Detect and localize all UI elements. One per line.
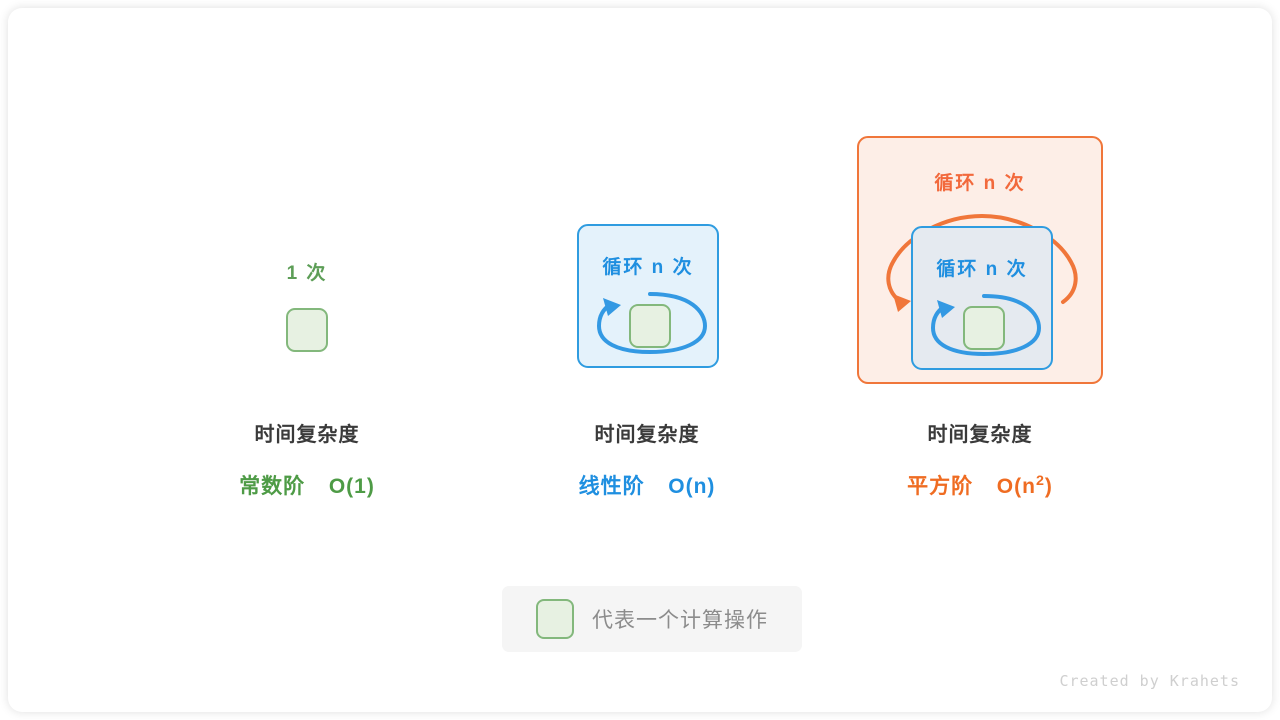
- caption-quadratic: 时间复杂度 平方阶 O(n2): [855, 418, 1105, 500]
- complexity-name: 常数阶: [239, 475, 305, 498]
- legend: 代表一个计算操作: [502, 586, 802, 652]
- caption-title: 时间复杂度: [855, 418, 1105, 447]
- loop-box-outer: 循环 n 次 循环 n 次: [857, 136, 1103, 384]
- caption-complexity: 线性阶 O(n): [547, 470, 747, 500]
- complexity-name: 平方阶: [907, 475, 973, 498]
- caption-linear: 时间复杂度 线性阶 O(n): [547, 418, 747, 500]
- computation-unit: [963, 306, 1005, 350]
- group-quadratic: 循环 n 次 循环 n 次 时间复杂度 平方阶 O(n2: [855, 128, 1105, 498]
- loop-box-inner: 循环 n 次: [911, 226, 1053, 370]
- complexity-notation: O(1): [329, 475, 375, 498]
- complexity-notation-suffix: ): [1045, 475, 1053, 498]
- caption-title: 时间复杂度: [207, 418, 407, 447]
- caption-complexity: 常数阶 O(1): [207, 470, 407, 500]
- computation-unit-swatch: [536, 599, 574, 639]
- caption-title: 时间复杂度: [547, 418, 747, 447]
- group-linear: 循环 n 次 时间复杂度 线性阶 O(n): [547, 218, 747, 498]
- complexity-name: 线性阶: [579, 475, 645, 498]
- caption-constant: 时间复杂度 常数阶 O(1): [207, 418, 407, 500]
- loop-label-inner: 循环 n 次: [579, 252, 717, 279]
- complexity-notation-base: O(n: [997, 475, 1036, 498]
- complexity-notation: O(n): [668, 475, 715, 498]
- group-constant: 1 次 时间复杂度 常数阶 O(1): [207, 258, 407, 498]
- computation-unit: [629, 304, 671, 348]
- credit-text: Created by Krahets: [1059, 672, 1240, 690]
- constant-count-label: 1 次: [207, 258, 407, 285]
- loop-arrow-icon: [913, 228, 1055, 372]
- loop-label-outer: 循环 n 次: [859, 168, 1101, 195]
- complexity-exponent: 2: [1036, 473, 1045, 489]
- loop-arrow-icon: [579, 226, 721, 370]
- caption-complexity: 平方阶 O(n2): [855, 470, 1105, 500]
- constant-stage: [207, 298, 407, 418]
- diagram-canvas: 1 次 时间复杂度 常数阶 O(1) 循环 n 次 时间复杂度: [8, 8, 1272, 712]
- computation-unit: [286, 308, 328, 352]
- loop-box-inner: 循环 n 次: [577, 224, 719, 368]
- loop-label-inner: 循环 n 次: [913, 254, 1051, 281]
- legend-label: 代表一个计算操作: [592, 604, 768, 634]
